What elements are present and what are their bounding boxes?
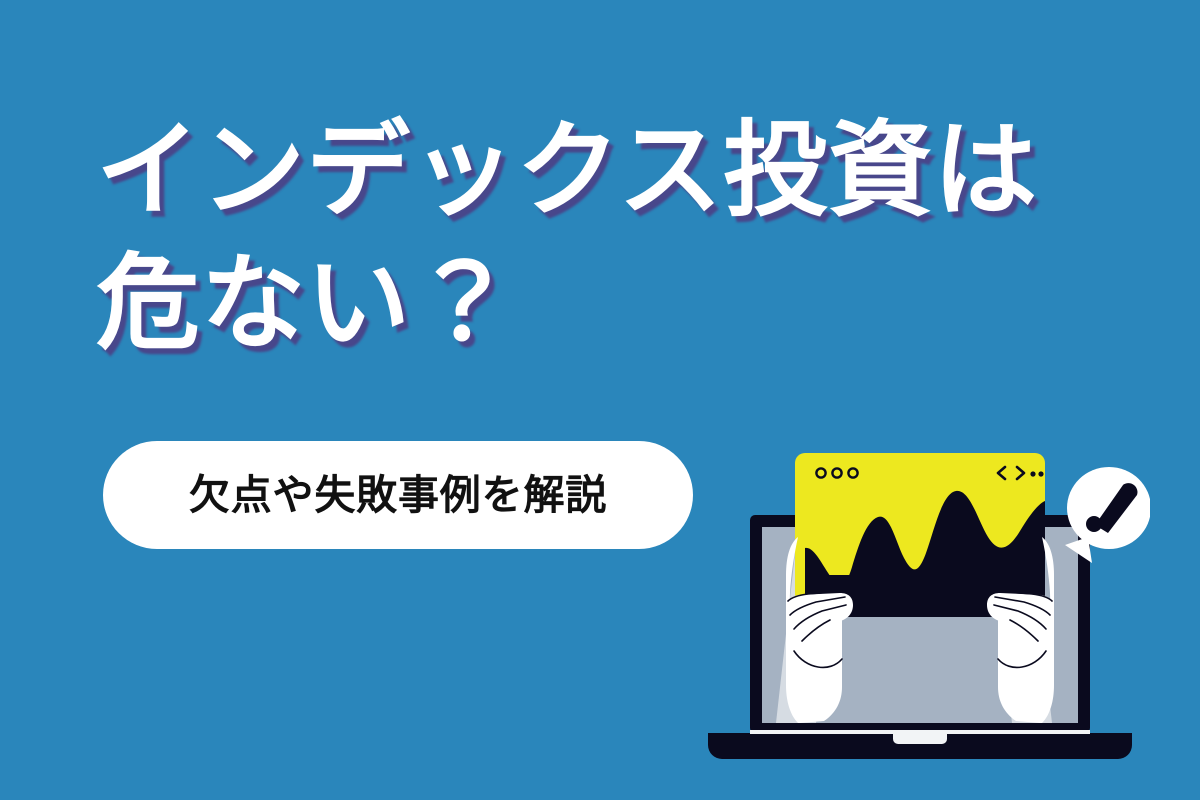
page-title: インデックス投資は 危ない？ — [96, 104, 1106, 370]
laptop-base — [708, 730, 1132, 759]
subtitle-pill: 欠点や失敗事例を解説 — [103, 441, 693, 549]
laptop-illustration — [690, 425, 1150, 770]
speech-bubble — [1065, 467, 1150, 563]
subtitle-label: 欠点や失敗事例を解説 — [189, 475, 607, 516]
thumbnail-canvas: インデックス投資は 危ない？ 欠点や失敗事例を解説 — [0, 0, 1200, 800]
